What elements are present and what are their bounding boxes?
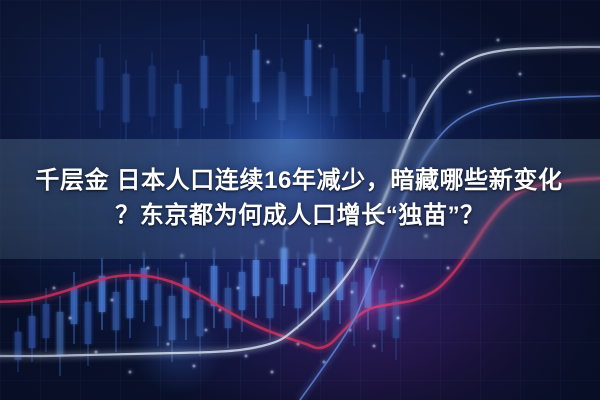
headline-line-1: 千层金 日本人口连续16年减少，暗藏哪些新变化 bbox=[35, 168, 562, 195]
thumbnail-canvas: 千层金 日本人口连续16年减少，暗藏哪些新变化 ？东京都为何成人口增长“独苗”？ bbox=[0, 0, 600, 400]
headline: 千层金 日本人口连续16年减少，暗藏哪些新变化 ？东京都为何成人口增长“独苗”？ bbox=[0, 139, 600, 259]
headline-line-2: ？东京都为何成人口增长“独苗”？ bbox=[115, 203, 485, 230]
